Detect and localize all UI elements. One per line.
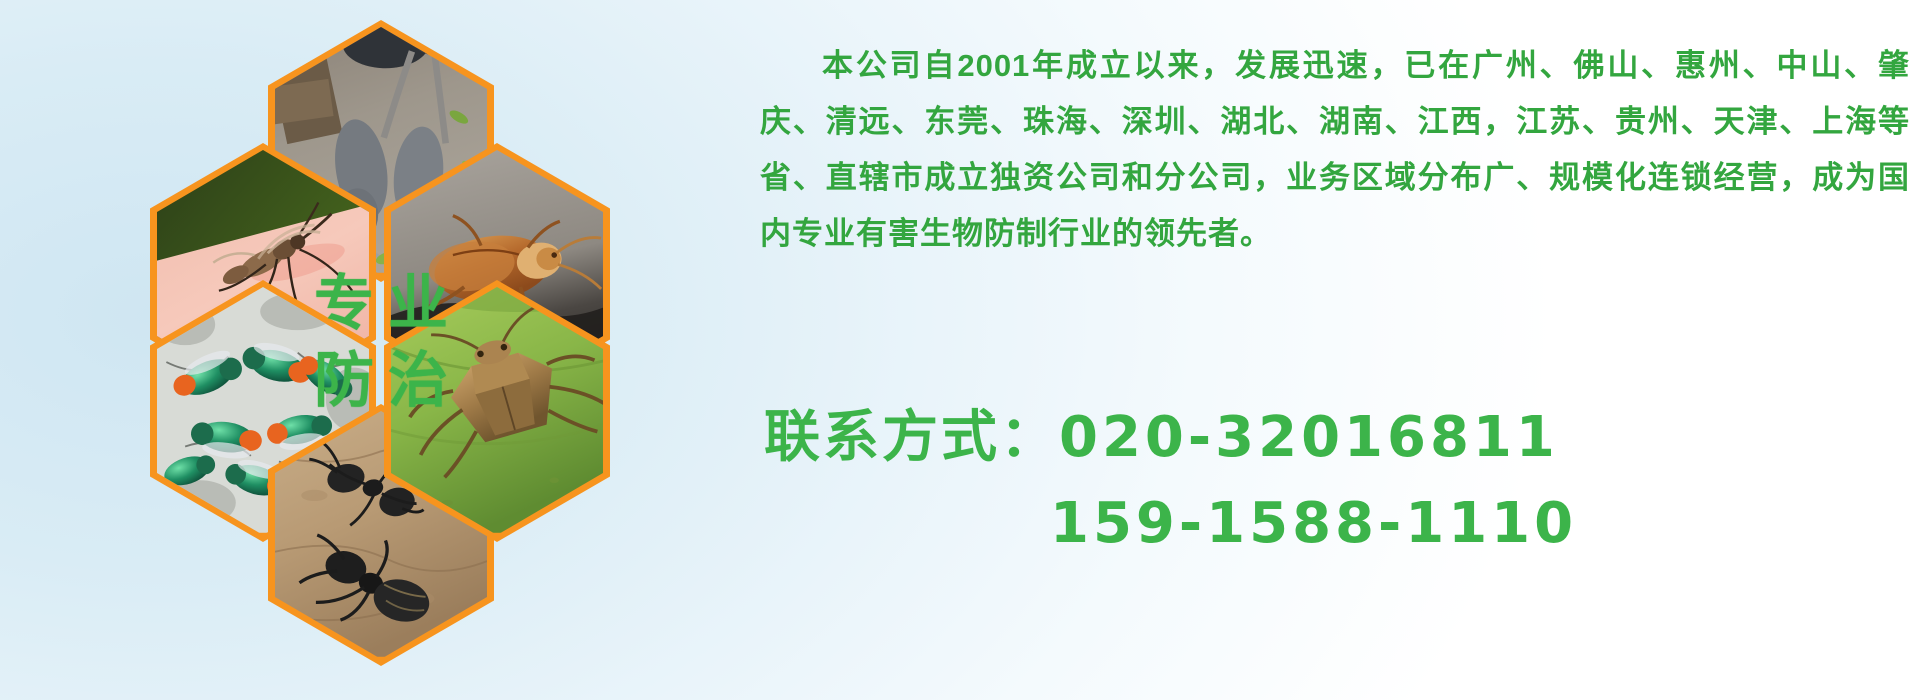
contact-phone-2[interactable]: 159-1588-1110 [1050,491,1577,556]
honeycomb-photo-cluster: 专业 防治 [0,0,760,700]
slogan-line-1: 专业 [300,266,462,343]
contact-phone-1[interactable]: 020-32016811 [1059,405,1559,470]
slogan-line-2: 防治 [300,343,462,420]
company-intro-paragraph: 本公司自2001年成立以来，发展迅速，已在广州、佛山、惠州、中山、肇庆、清远、东… [760,38,1910,262]
contact-block: 联系方式：020-32016811 159-1588-1110 [764,395,1914,567]
banner-content: 本公司自2001年成立以来，发展迅速，已在广州、佛山、惠州、中山、肇庆、清远、东… [742,0,1920,700]
contact-label: 联系方式： [764,405,1059,470]
contact-secondary-line: 159-1588-1110 [764,481,1914,567]
promo-banner: 专业 防治 本公司自2001年成立以来，发展迅速，已在广州、佛山、惠州、中山、肇… [0,0,1920,700]
contact-primary-line: 联系方式：020-32016811 [764,395,1914,481]
company-intro-text: 本公司自2001年成立以来，发展迅速，已在广州、佛山、惠州、中山、肇庆、清远、东… [760,38,1910,262]
